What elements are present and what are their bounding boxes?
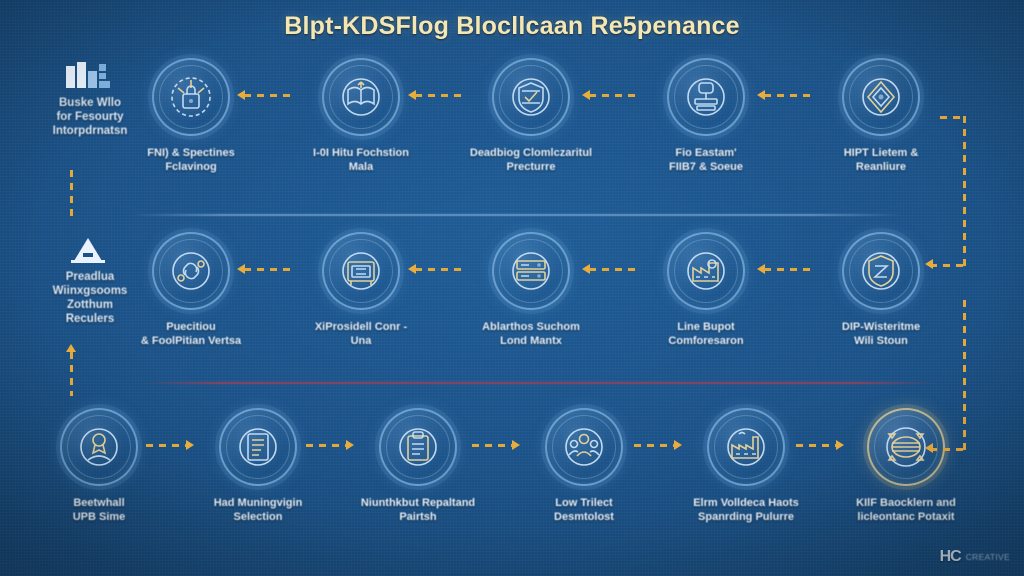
server-stack-icon — [492, 232, 570, 310]
connector-right-elbow-bottom — [930, 448, 966, 451]
node-label: HIPT Lietem &Reanliure — [815, 146, 947, 174]
node-row2-3[interactable]: Low TrilectDesmtolost — [518, 408, 650, 524]
open-book-icon — [322, 58, 400, 136]
node-row2-1[interactable]: Had MuningviginSelection — [192, 408, 324, 524]
watermark: HC CREATIVE — [940, 548, 1010, 566]
node-label: Had MuningviginSelection — [192, 496, 324, 524]
node-row2-4[interactable]: Elrm Volldeca HaotsSpanrding Pulurre — [680, 408, 812, 524]
arrow-row2-4 — [634, 439, 682, 451]
node-label: XiProsidell Conr -Una — [295, 320, 427, 348]
network-lock-icon — [152, 58, 230, 136]
connector-right-vertical-bottom — [963, 300, 966, 450]
node-label: I-0I Hitu FochstionMala — [295, 146, 427, 174]
arrow-row2-2 — [306, 439, 354, 451]
arrow-row1-4 — [757, 263, 813, 275]
arrow-row0-3 — [582, 89, 638, 101]
node-row0-0[interactable]: FNI) & SpectinesFclavinog — [125, 58, 257, 174]
watermark-text: CREATIVE — [966, 552, 1010, 562]
user-award-icon — [60, 408, 138, 486]
connector-left-vertical-top — [70, 170, 73, 218]
diamond-gem-icon — [842, 58, 920, 136]
node-label: DIP-WisteritmeWili Stoun — [815, 320, 947, 348]
document-list-icon — [219, 408, 297, 486]
node-row1-2[interactable]: Ablarthos SuchomLond Mantx — [465, 232, 597, 348]
node-label: BeetwhallUPB Sime — [33, 496, 165, 524]
node-label: Line BupotComforesaron — [640, 320, 772, 348]
arrow-row0-4 — [757, 89, 813, 101]
node-label: FNI) & SpectinesFclavinog — [125, 146, 257, 174]
node-row0-2[interactable]: Deadbiog ClomlczaritulPrecturre — [465, 58, 597, 174]
page-title: Blpt-KDSFlog Blocllcaan Re5penance — [0, 12, 1024, 41]
row-implementation: Puecitiou& FoolPitian Vertsa XiProsidell… — [0, 232, 1024, 382]
stamp-seal-icon — [667, 58, 745, 136]
arrow-row0-2 — [408, 89, 463, 101]
node-label: Low TrilectDesmtolost — [518, 496, 650, 524]
group-people-icon — [545, 408, 623, 486]
divider-row2 — [140, 382, 939, 384]
node-row0-1[interactable]: I-0I Hitu FochstionMala — [295, 58, 427, 174]
node-label: Elrm Volldeca HaotsSpanrding Pulurre — [680, 496, 812, 524]
safe-vault-icon — [322, 232, 400, 310]
connector-arrowhead-left-up — [66, 344, 76, 352]
factory-plant-icon — [707, 408, 785, 486]
arrow-row2-3 — [472, 439, 520, 451]
connector-right-vertical-top — [963, 116, 966, 266]
node-row0-4[interactable]: HIPT Lietem &Reanliure — [815, 58, 947, 174]
node-row1-3[interactable]: Line BupotComforesaron — [640, 232, 772, 348]
node-row1-4[interactable]: DIP-WisteritmeWili Stoun — [815, 232, 947, 348]
node-row0-3[interactable]: Fio Eastam'FIIB7 & Soeue — [640, 58, 772, 174]
connector-arrowhead-mid — [925, 259, 933, 269]
clipboard-doc-icon — [379, 408, 457, 486]
connector-arrowhead-bottom — [925, 443, 933, 453]
arrow-row1-1 — [237, 263, 292, 275]
node-row2-5[interactable]: KIlF Baocklern andlicleontanc Potaxit — [840, 408, 972, 524]
node-label: Deadbiog ClomlczaritulPrecturre — [465, 146, 597, 174]
link-chain-icon — [152, 232, 230, 310]
arrow-row1-3 — [582, 263, 638, 275]
watermark-logo: HC — [940, 548, 961, 566]
infographic-canvas: Blpt-KDSFlog Blocllcaan Re5penance Buske… — [0, 0, 1024, 576]
node-row1-0[interactable]: Puecitiou& FoolPitian Vertsa — [125, 232, 257, 348]
node-row2-0[interactable]: BeetwhallUPB Sime — [33, 408, 165, 524]
node-label: Fio Eastam'FIIB7 & Soeue — [640, 146, 772, 174]
node-row1-1[interactable]: XiProsidell Conr -Una — [295, 232, 427, 348]
node-label: Ablarthos SuchomLond Mantx — [465, 320, 597, 348]
node-row2-2[interactable]: Niunthkbut RepaltandPairtsh — [352, 408, 484, 524]
row-discovery: FNI) & SpectinesFclavinog I-0I Hitu Foch… — [0, 58, 1024, 208]
data-grid-icon — [867, 408, 945, 486]
arrow-row1-2 — [408, 263, 463, 275]
factory-gear-icon — [667, 232, 745, 310]
node-label: KIlF Baocklern andlicleontanc Potaxit — [840, 496, 972, 524]
arrow-row0-1 — [237, 89, 292, 101]
connector-left-vertical-bottom — [70, 352, 73, 396]
node-label: Niunthkbut RepaltandPairtsh — [352, 496, 484, 524]
connector-right-elbow-mid — [930, 264, 966, 267]
node-label: Puecitiou& FoolPitian Vertsa — [125, 320, 257, 348]
divider-row1 — [130, 214, 904, 216]
arrow-row2-1 — [146, 439, 194, 451]
shield-badge-icon — [492, 58, 570, 136]
arrow-row2-5 — [796, 439, 844, 451]
row-outcomes: BeetwhallUPB Sime Had MuningviginSelecti… — [0, 408, 1024, 558]
shield-z-icon — [842, 232, 920, 310]
